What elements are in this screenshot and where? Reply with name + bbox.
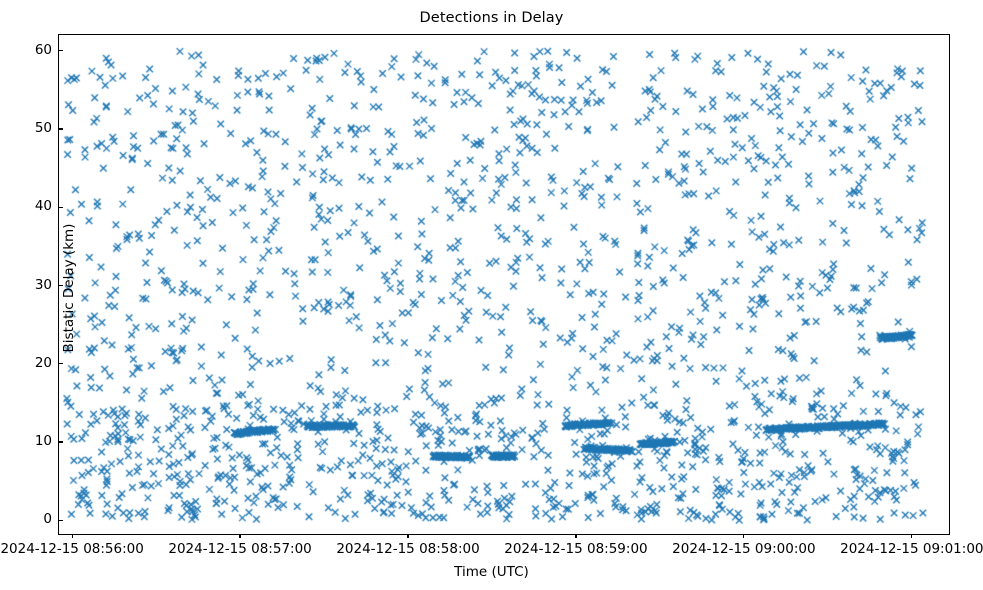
x-tick-mark (911, 534, 912, 538)
y-tick-label: 40 (35, 198, 52, 214)
y-tick-mark (59, 285, 63, 286)
scatter-plot-area (59, 35, 951, 536)
x-tick-label: 2024-12-15 08:56:00 (0, 541, 143, 557)
x-tick-mark (575, 534, 576, 538)
y-tick-mark (59, 50, 63, 51)
y-tick-label: 50 (35, 120, 52, 136)
y-tick-label: 30 (35, 277, 52, 293)
y-tick-mark (59, 128, 63, 129)
x-tick-label: 2024-12-15 08:59:00 (504, 541, 647, 557)
x-tick-mark (743, 534, 744, 538)
x-tick-label: 2024-12-15 08:57:00 (168, 541, 311, 557)
x-tick-label: 2024-12-15 09:00:00 (672, 541, 815, 557)
y-tick-mark (59, 441, 63, 442)
plot-axes: Bistatic Delay (km) 0102030405060 2024-1… (58, 34, 950, 535)
y-tick-label: 10 (35, 433, 52, 449)
x-tick-mark (72, 534, 73, 538)
figure-canvas: Detections in Delay Bistatic Delay (km) … (0, 0, 983, 590)
x-tick-mark (407, 534, 408, 538)
x-tick-mark (239, 534, 240, 538)
x-tick-label: 2024-12-15 08:58:00 (336, 541, 479, 557)
y-tick-label: 20 (35, 355, 52, 371)
y-tick-mark (59, 207, 63, 208)
y-tick-mark (59, 363, 63, 364)
y-axis-label: Bistatic Delay (km) (61, 8, 77, 568)
y-tick-label: 60 (35, 42, 52, 58)
y-tick-mark (59, 520, 63, 521)
x-axis-label: Time (UTC) (0, 564, 983, 580)
x-tick-label: 2024-12-15 09:01:00 (840, 541, 983, 557)
page-title: Detections in Delay (0, 10, 983, 26)
y-tick-label: 0 (43, 511, 52, 527)
